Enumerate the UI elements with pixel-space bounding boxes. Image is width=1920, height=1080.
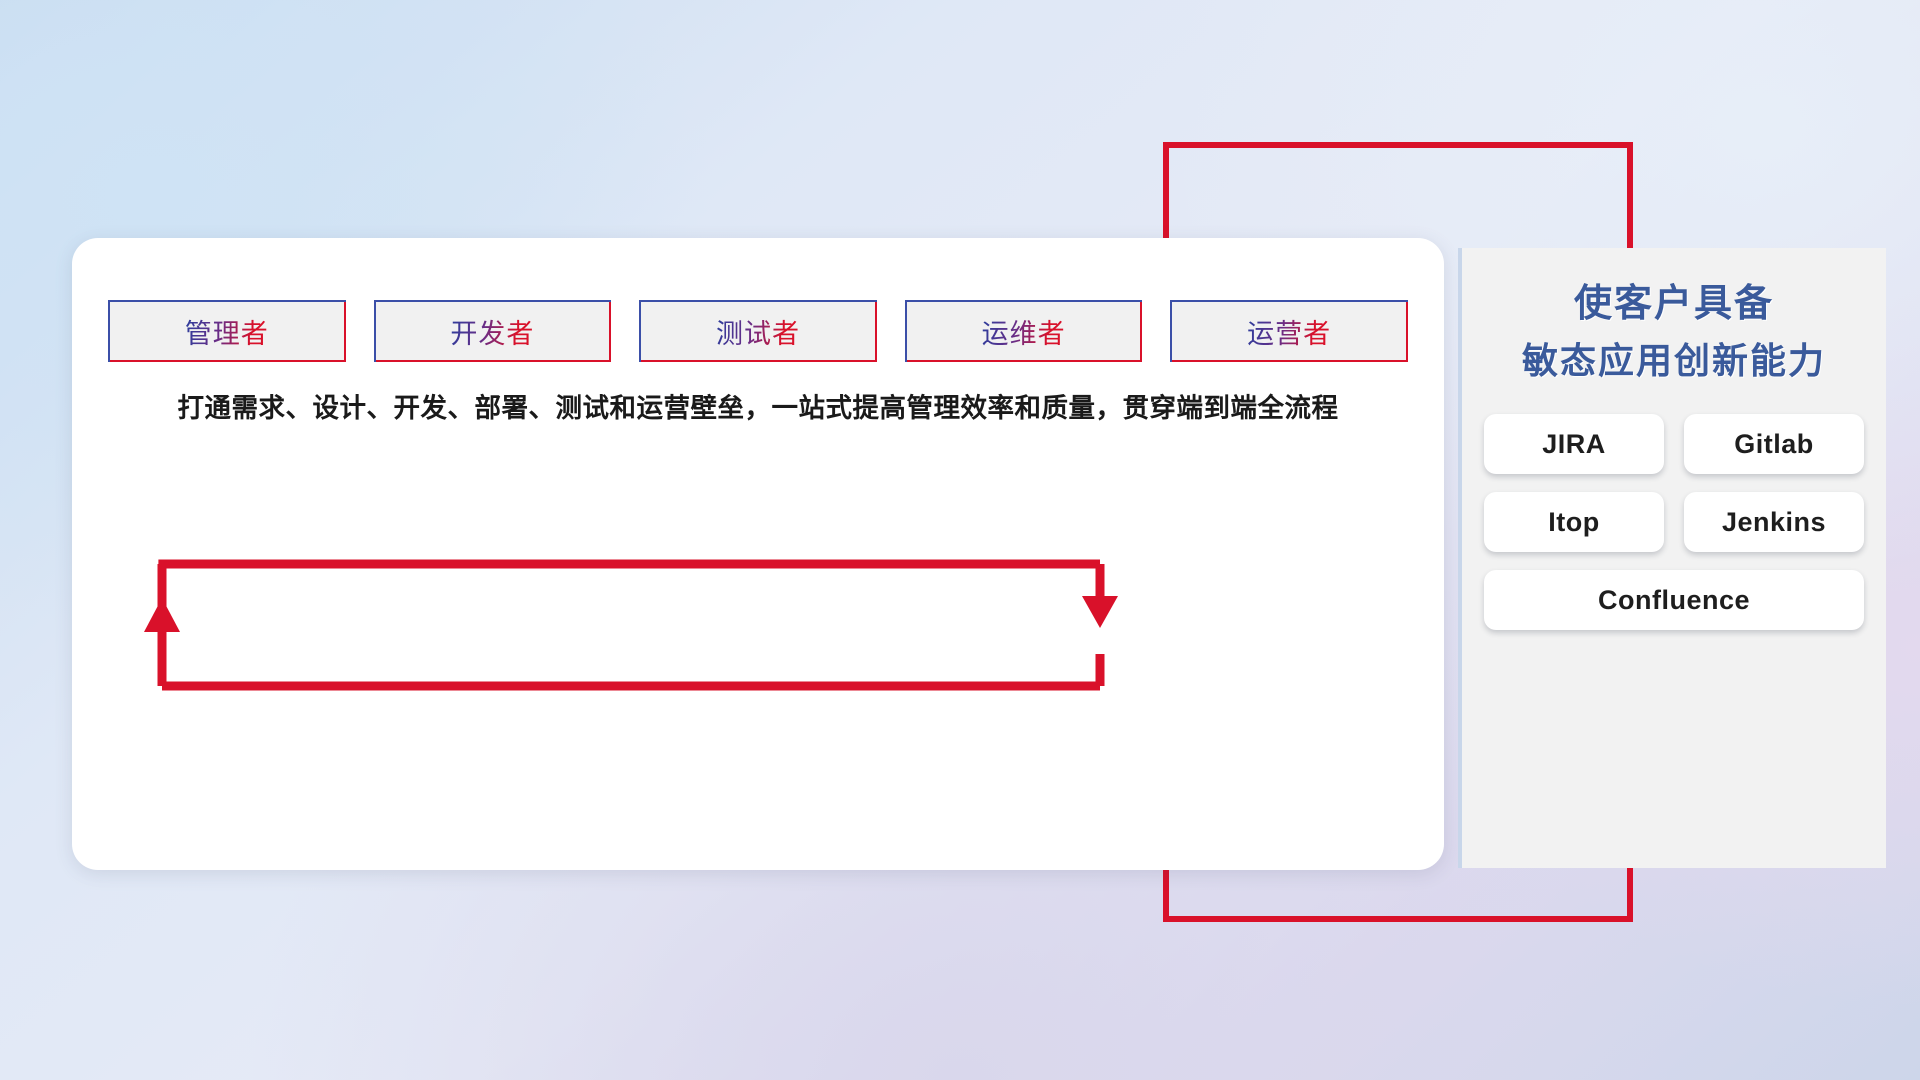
roles-row: 管理者 开发者 测试者 运维者 运营者 [108, 300, 1408, 362]
tool-chip-gitlab[interactable]: Gitlab [1684, 414, 1864, 474]
role-box-manager[interactable]: 管理者 [108, 300, 346, 362]
tool-chip-itop[interactable]: Itop [1484, 492, 1664, 552]
side-panel: 使客户具备 敏态应用创新能力 JIRA Gitlab Itop Jenkins … [1458, 248, 1886, 868]
role-label: 开发者 [450, 312, 534, 351]
slide-canvas: 管理者 开发者 测试者 运维者 运营者 打通需求、设计、开发、部署、测试和运营壁… [0, 0, 1920, 1080]
role-box-operator[interactable]: 运营者 [1170, 300, 1408, 362]
tagline: 打通需求、设计、开发、部署、测试和运营壁垒，一站式提高管理效率和质量，贯穿端到端… [72, 386, 1444, 425]
tool-chip-grid: JIRA Gitlab Itop Jenkins Confluence [1484, 414, 1864, 630]
red-feedback-loop-icon [128, 536, 1168, 706]
side-panel-title: 使客户具备 敏态应用创新能力 [1484, 276, 1864, 388]
role-label: 管理者 [185, 312, 269, 351]
role-label: 运维者 [982, 312, 1066, 351]
role-box-ops[interactable]: 运维者 [905, 300, 1143, 362]
role-label: 运营者 [1247, 312, 1331, 351]
side-panel-title-line1: 使客户具备 [1484, 276, 1864, 334]
role-label: 测试者 [716, 312, 800, 351]
role-box-tester[interactable]: 测试者 [639, 300, 877, 362]
tool-chip-jira[interactable]: JIRA [1484, 414, 1664, 474]
tool-chip-confluence[interactable]: Confluence [1484, 570, 1864, 630]
side-panel-title-line2: 敏态应用创新能力 [1484, 334, 1864, 389]
role-box-developer[interactable]: 开发者 [374, 300, 612, 362]
tool-chip-jenkins[interactable]: Jenkins [1684, 492, 1864, 552]
